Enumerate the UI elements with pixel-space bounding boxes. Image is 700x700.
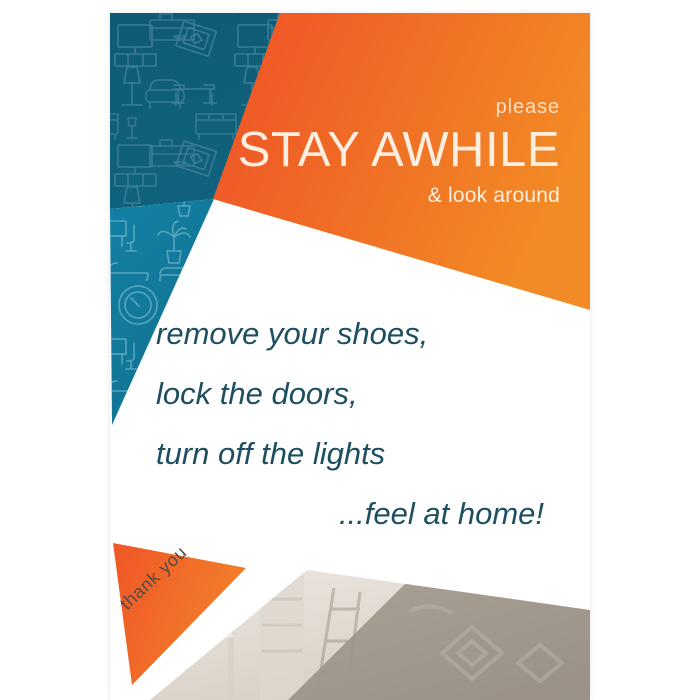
instruction-line-1: remove your shoes, — [138, 318, 562, 349]
instruction-list: remove your shoes, lock the doors, turn … — [110, 318, 590, 529]
instruction-line-2: lock the doors, — [138, 378, 562, 409]
poster-card: please STAY AWHILE & look around remove … — [110, 13, 590, 700]
header-subtitle: & look around — [428, 185, 560, 206]
header-eyebrow: please — [496, 97, 560, 117]
instruction-line-3: turn off the lights — [138, 438, 562, 469]
page-title: STAY AWHILE — [238, 126, 560, 175]
screenshot-canvas: please STAY AWHILE & look around remove … — [0, 0, 700, 700]
